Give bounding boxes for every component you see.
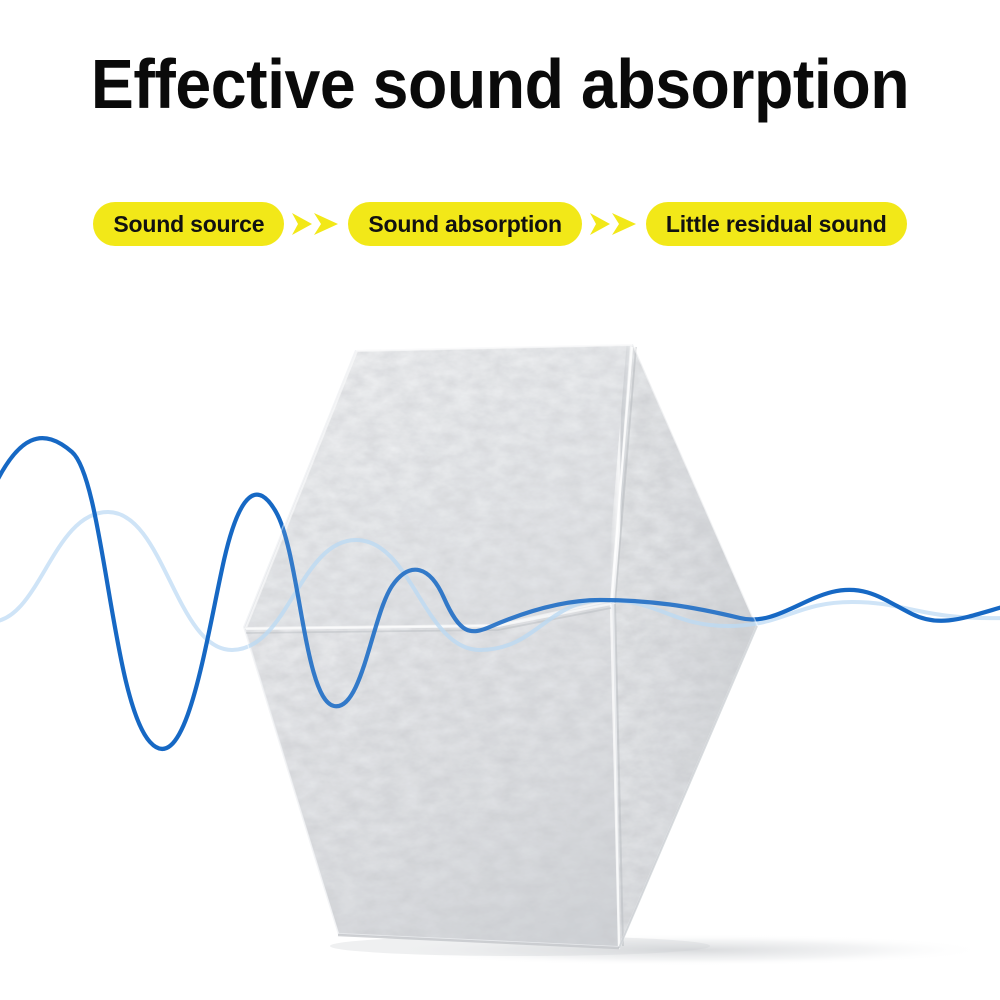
badge-sound-source[interactable]: Sound source — [93, 202, 284, 246]
badge-little-residual-sound[interactable]: Little residual sound — [646, 202, 907, 246]
badge-label: Sound absorption — [368, 211, 562, 238]
marketing-banner: Effective sound absorption Sound source … — [0, 0, 1000, 1000]
double-chevron-right-icon — [284, 202, 348, 246]
sound-flow-steps: Sound source Sound absorption Little res… — [0, 202, 1000, 246]
double-chevron-right-icon — [582, 202, 646, 246]
product-illustration — [0, 0, 1000, 1000]
badge-sound-absorption[interactable]: Sound absorption — [348, 202, 582, 246]
badge-label: Little residual sound — [666, 211, 887, 238]
page-title: Effective sound absorption — [40, 46, 960, 122]
badge-label: Sound source — [113, 211, 264, 238]
